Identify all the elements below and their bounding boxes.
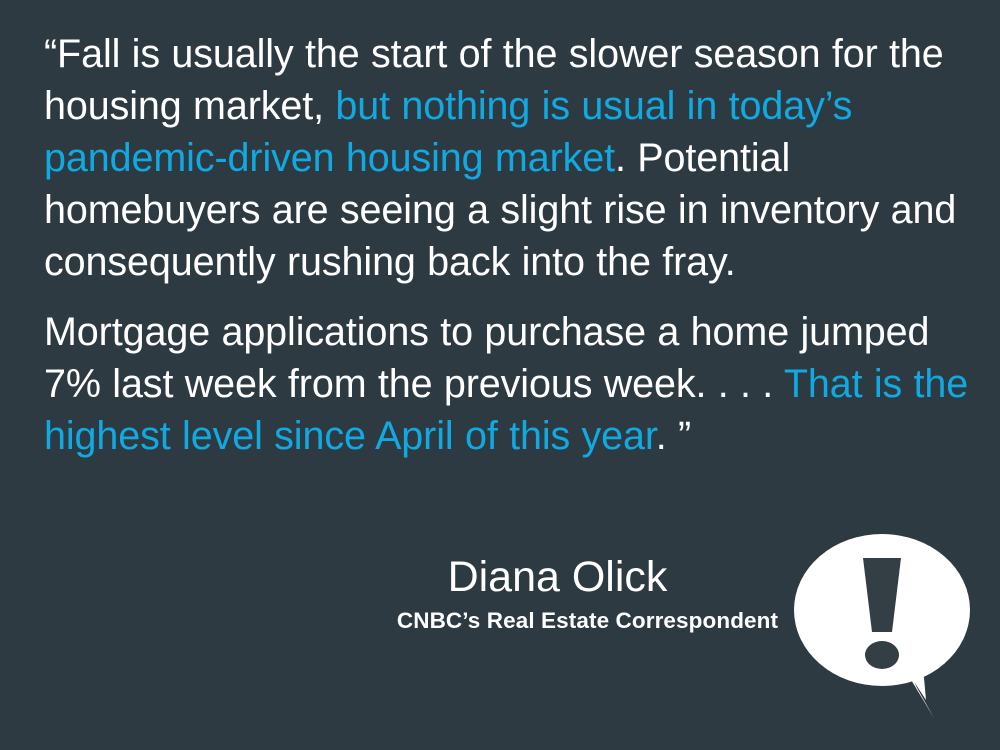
quote-paragraph-2: Mortgage applications to purchase a home… — [44, 306, 969, 462]
quote-p2-segment-3: . ” — [656, 414, 691, 458]
quote-paragraph-1: “Fall is usually the start of the slower… — [44, 28, 969, 288]
quote-slide: “Fall is usually the start of the slower… — [0, 0, 1000, 750]
quote-block: “Fall is usually the start of the slower… — [44, 28, 969, 462]
attribution-name: Diana Olick — [240, 552, 875, 602]
speech-bubble-exclamation-icon — [788, 528, 993, 728]
